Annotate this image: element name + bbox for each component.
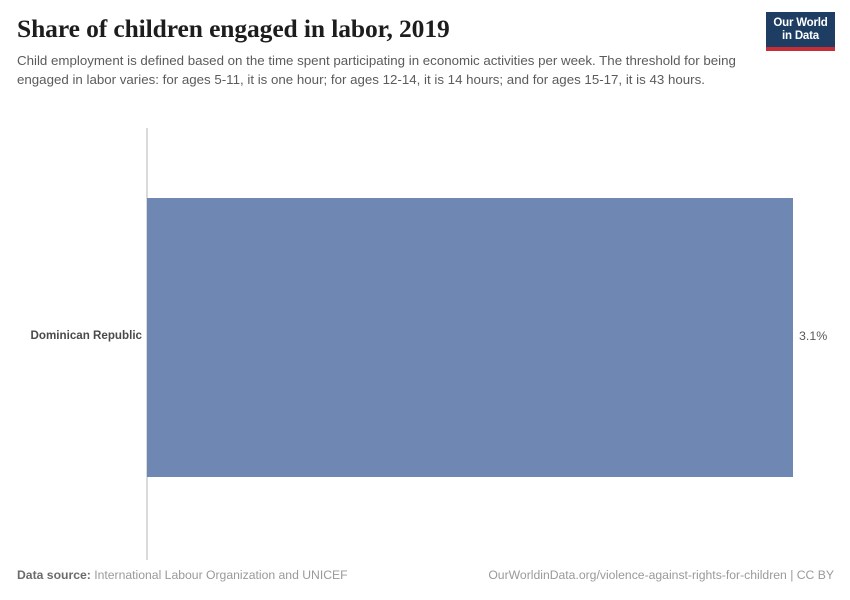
bar-rect-dominican-republic[interactable]: [147, 198, 793, 477]
chart-subtitle: Child employment is defined based on the…: [17, 51, 741, 89]
logo-line-one: Our World: [773, 17, 827, 30]
our-world-in-data-logo[interactable]: Our World in Data: [766, 12, 835, 51]
page-title: Share of children engaged in labor, 2019: [17, 14, 737, 44]
logo-line-two: in Data: [782, 30, 819, 43]
data-source-value: International Labour Organization and UN…: [94, 568, 347, 582]
chart-footer: Data source: International Labour Organi…: [0, 556, 850, 600]
owid-chart: Share of children engaged in labor, 2019…: [0, 0, 850, 600]
bar-value-label: 3.1%: [799, 329, 827, 343]
data-source-label: Data source:: [17, 568, 91, 582]
chart-header: Share of children engaged in labor, 2019…: [0, 0, 850, 118]
plot-area: Dominican Republic 3.1%: [0, 118, 850, 556]
bar-category-label: Dominican Republic: [0, 329, 142, 343]
owid-url-license[interactable]: OurWorldinData.org/violence-against-righ…: [488, 568, 834, 583]
bar-row-dominican-republic[interactable]: Dominican Republic 3.1%: [0, 118, 850, 556]
data-source: Data source: International Labour Organi…: [17, 568, 348, 583]
